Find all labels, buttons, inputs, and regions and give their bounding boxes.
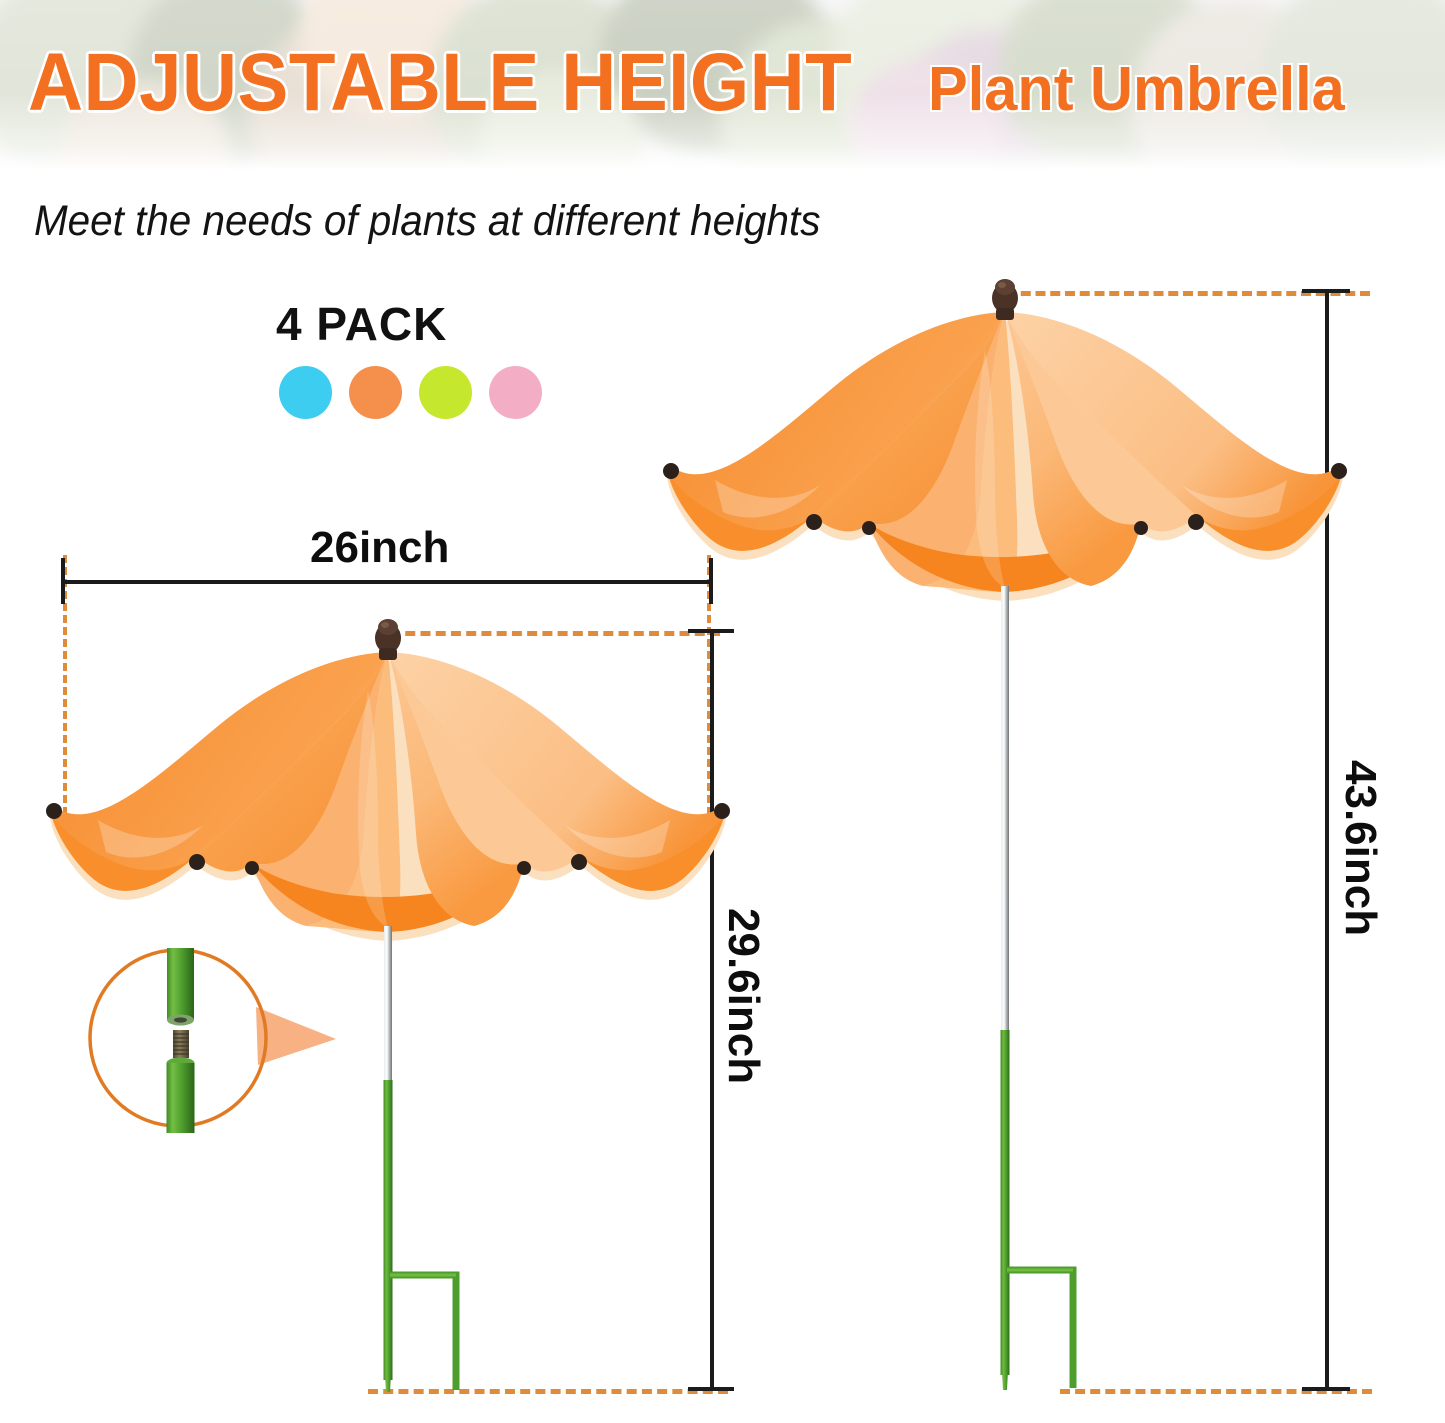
header-banner: ADJUSTABLE HEIGHT Plant Umbrella [0, 0, 1445, 170]
subtitle-text: Meet the needs of plants at different he… [34, 198, 820, 244]
color-swatch-row [279, 366, 542, 419]
pole-segment-lower [167, 1063, 195, 1133]
color-swatch-blue [279, 366, 332, 419]
pole-upper [384, 926, 392, 1084]
pack-info: 4 PACK [276, 300, 542, 419]
callout-pointer [256, 1007, 336, 1065]
color-swatch-pink [489, 366, 542, 419]
page-title: ADJUSTABLE HEIGHT Plant Umbrella [28, 42, 1362, 124]
pole-lower [1001, 1030, 1010, 1375]
product-infographic: ADJUSTABLE HEIGHT Plant Umbrella Meet th… [0, 0, 1445, 1423]
color-swatch-orange [349, 366, 402, 419]
pole-upper [1001, 586, 1009, 1034]
pole-lower [384, 1080, 393, 1380]
title-sub-text: Plant Umbrella [928, 59, 1345, 121]
tall-umbrella [655, 280, 1355, 1395]
adjustable-pole-detail-callout [88, 935, 358, 1145]
pack-count-label: 4 PACK [276, 300, 542, 348]
width-measure-cap-left [61, 558, 65, 604]
pole-segment-upper [167, 948, 194, 1020]
title-main-text: ADJUSTABLE HEIGHT [28, 42, 852, 124]
screw-connector [173, 1030, 189, 1058]
width-measure-cap-right [709, 558, 713, 604]
width-label: 26inch [310, 523, 449, 573]
width-measure-line [63, 580, 711, 584]
color-swatch-green [419, 366, 472, 419]
